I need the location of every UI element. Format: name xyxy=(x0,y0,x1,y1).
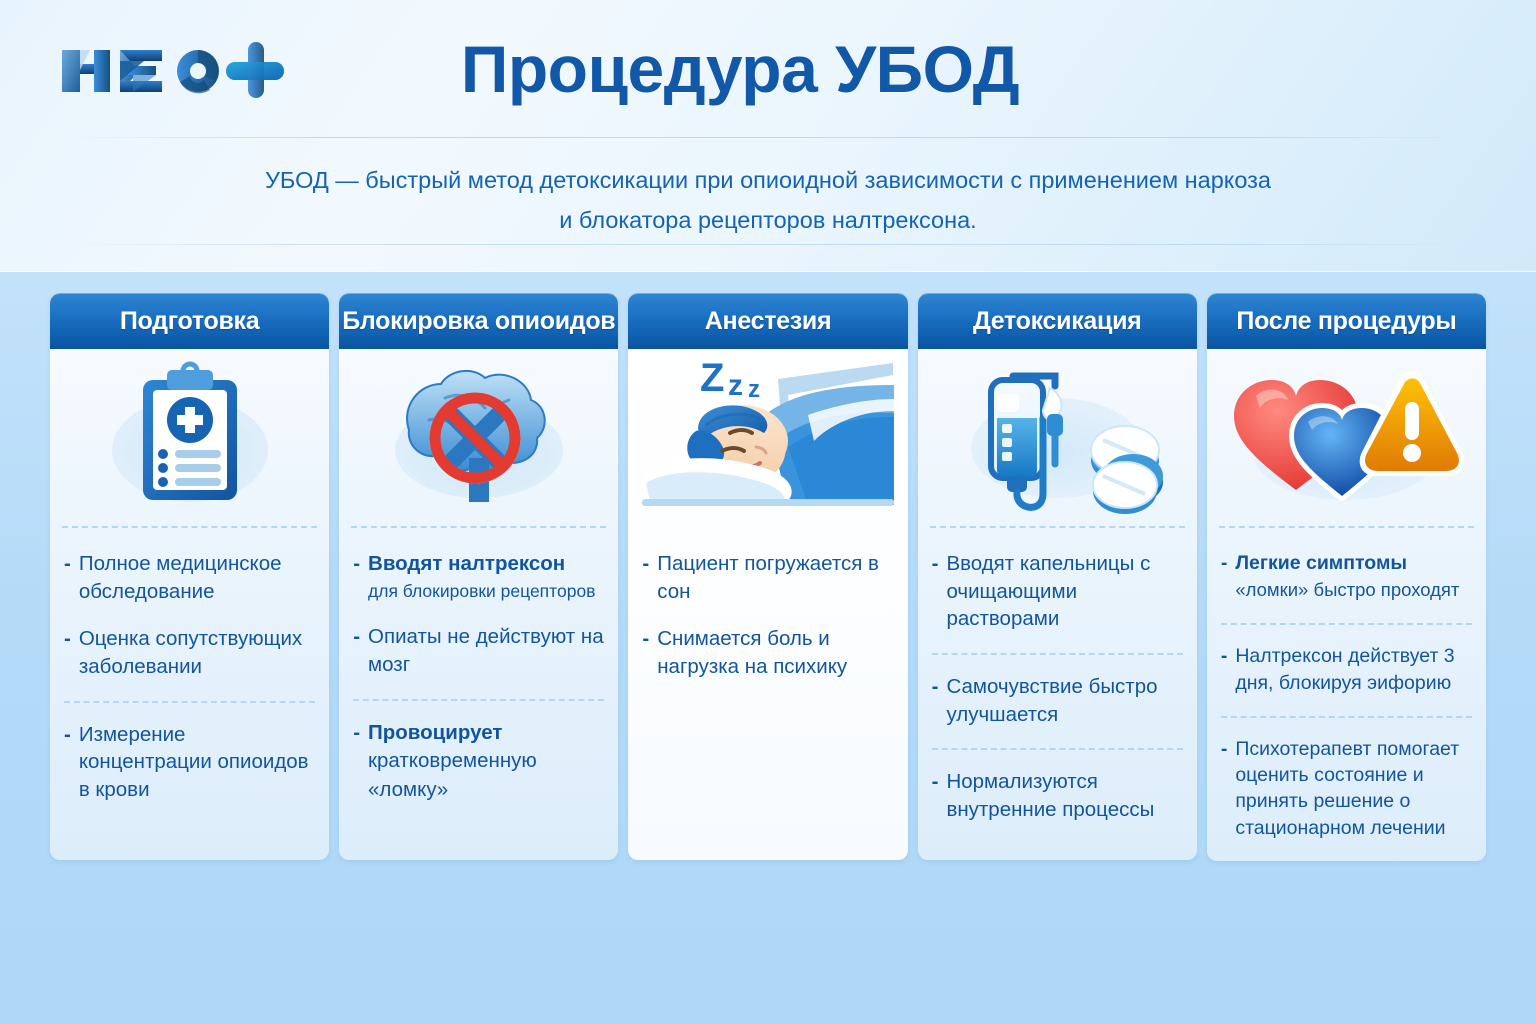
bullet-dash: - xyxy=(64,550,71,578)
bullet-divider xyxy=(932,653,1183,655)
bullet-strong: Вводят налтрексон xyxy=(368,550,604,578)
bullet-label: Пациент погружается в сон xyxy=(657,550,893,605)
header-divider-top xyxy=(60,137,1476,138)
card-bullets: - Вводят капельницы с очищающими раствор… xyxy=(918,528,1197,860)
list-item: - Нормализуются внутренние процессы xyxy=(932,768,1183,823)
neo-plus-logo[interactable] xyxy=(58,40,298,102)
card-header: Блокировка опиоидов xyxy=(339,293,618,349)
bullet-label: Самочувствие быстро улучшается xyxy=(946,673,1182,728)
card-icon-divider xyxy=(1219,526,1474,528)
bullet-dash: - xyxy=(1221,643,1228,669)
bullet-subtext: «ломки» быстро проходят xyxy=(1235,577,1472,603)
card-icon-divider xyxy=(351,526,606,528)
page-subtitle: УБОД — быстрый метод детоксикации при оп… xyxy=(168,160,1368,241)
bullet-dash: - xyxy=(932,673,939,701)
list-item: - Легкие симптомы «ломки» быстро проходя… xyxy=(1221,550,1472,603)
bullet-strong: Провоцирует xyxy=(368,719,604,747)
header-divider-bottom xyxy=(60,244,1476,245)
bullet-subtext: для блокировки рецепторов xyxy=(368,579,604,604)
card-title: Анестезия xyxy=(705,307,831,336)
bullet-dash: - xyxy=(932,550,939,578)
step-card-after-procedure[interactable]: После процедуры xyxy=(1207,293,1486,861)
bullet-label: Нормализуются внутренние процессы xyxy=(946,768,1182,823)
list-item: - Пациент погружается в сон xyxy=(642,550,893,605)
card-bullets: - Вводят налтрексон для блокировки рецеп… xyxy=(339,528,618,860)
card-title: Блокировка опиоидов xyxy=(342,307,615,336)
list-item: - Налтрексон действует 3 дня, блокируя э… xyxy=(1221,643,1472,696)
bullet-dash: - xyxy=(353,623,360,651)
card-icon-divider xyxy=(930,526,1185,528)
subtitle-line-1: УБОД — быстрый метод детоксикации при оп… xyxy=(168,160,1368,200)
card-bullets: - Пациент погружается в сон - Снимается … xyxy=(628,528,907,860)
bullet-strong: Легкие симптомы xyxy=(1235,550,1472,576)
bullet-label: Оценка сопутствующих заболевании xyxy=(79,625,315,680)
bullet-label: Психотерапевт помогает оценить состояние… xyxy=(1235,736,1472,841)
card-bullets: - Легкие симптомы «ломки» быстро проходя… xyxy=(1207,528,1486,861)
bullet-label: Опиаты не действуют на мозг xyxy=(368,623,604,678)
infographic-page: Процедура УБОД УБОД — быстрый метод дето… xyxy=(0,0,1536,1024)
bullet-divider xyxy=(64,701,315,703)
card-header: Анестезия xyxy=(628,293,907,349)
card-icon-divider xyxy=(62,526,317,528)
list-item: - Опиаты не действуют на мозг xyxy=(353,623,604,678)
card-header: Детоксикация xyxy=(918,293,1197,349)
bullet-label: Налтрексон действует 3 дня, блокируя эиф… xyxy=(1235,643,1472,696)
list-item: - Полное медицинское обследование xyxy=(64,550,315,605)
bullet-label: Полное медицинское обследование xyxy=(79,550,315,605)
bullet-dash: - xyxy=(64,721,71,749)
svg-text:z: z xyxy=(748,376,760,403)
bullet-divider xyxy=(1221,623,1472,625)
step-card-opioid-blocking[interactable]: Блокировка опиоидов xyxy=(339,293,618,860)
card-title: Подготовка xyxy=(120,307,259,336)
bullet-label: Провоцирует кратковременную «ломку» xyxy=(368,719,604,805)
bullet-label: Вводят налтрексон для блокировки рецепто… xyxy=(368,550,604,603)
list-item: - Психотерапевт помогает оценить состоян… xyxy=(1221,736,1472,841)
card-header: После процедуры xyxy=(1207,293,1486,349)
step-card-preparation[interactable]: Подготовка xyxy=(50,293,329,860)
brain-blocked-icon xyxy=(339,349,618,526)
svg-text:Z: Z xyxy=(700,356,724,400)
step-card-anesthesia[interactable]: Анестезия xyxy=(628,293,907,860)
subtitle-line-2: и блокатора рецепторов налтрексона. xyxy=(168,200,1368,240)
steps-row: Подготовка xyxy=(50,293,1486,861)
bullet-dash: - xyxy=(642,625,649,653)
bullet-dash: - xyxy=(353,550,360,578)
sleeping-patient-icon: Z z z xyxy=(628,349,907,526)
card-title: Детоксикация xyxy=(973,307,1141,336)
card-bullets: - Полное медицинское обследование - Оцен… xyxy=(50,528,329,860)
list-item: - Вводят капельницы с очищающими раствор… xyxy=(932,550,1183,633)
list-item: - Снимается боль и нагрузка на психику xyxy=(642,625,893,680)
step-card-detox[interactable]: Детоксикация xyxy=(918,293,1197,860)
bullet-dash: - xyxy=(1221,736,1228,762)
list-item: - Измерение концентрации опиоидов в кров… xyxy=(64,721,315,804)
bullet-label: Легкие симптомы «ломки» быстро проходят xyxy=(1235,550,1472,603)
list-item: - Вводят налтрексон для блокировки рецеп… xyxy=(353,550,604,603)
bullet-divider xyxy=(353,699,604,701)
bullet-label: Вводят капельницы с очищающими растворам… xyxy=(946,550,1182,633)
list-item: - Провоцирует кратковременную «ломку» xyxy=(353,719,604,805)
list-item: - Самочувствие быстро улучшается xyxy=(932,673,1183,728)
list-item: - Оценка сопутствующих заболевании xyxy=(64,625,315,680)
bullet-label: Измерение концентрации опиоидов в крови xyxy=(79,721,315,804)
bullet-divider xyxy=(932,748,1183,750)
bullet-divider xyxy=(1221,716,1472,718)
clipboard-medical-icon xyxy=(50,349,329,526)
card-header: Подготовка xyxy=(50,293,329,349)
bullet-label: Снимается боль и нагрузка на психику xyxy=(657,625,893,680)
bullet-subtext: кратковременную «ломку» xyxy=(368,747,604,804)
bullet-dash: - xyxy=(642,550,649,578)
iv-drip-pills-icon xyxy=(918,349,1197,526)
bullet-dash: - xyxy=(64,625,71,653)
bullet-dash: - xyxy=(932,768,939,796)
svg-text:z: z xyxy=(728,369,743,402)
page-title: Процедура УБОД xyxy=(330,34,1150,105)
card-title: После процедуры xyxy=(1236,307,1456,336)
hearts-warning-icon xyxy=(1207,349,1486,526)
bullet-dash: - xyxy=(1221,550,1228,576)
bullet-dash: - xyxy=(353,719,360,747)
